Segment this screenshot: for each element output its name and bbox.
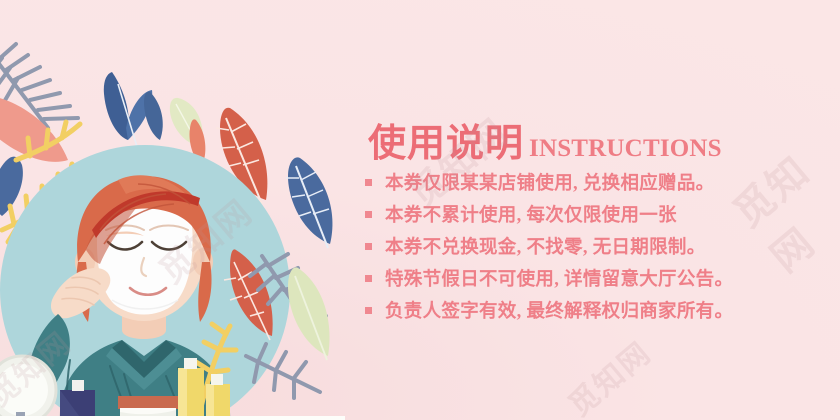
bullet-square-icon — [365, 307, 372, 314]
blue-bottle-cap — [72, 380, 84, 391]
list-item: 负责人签字有效, 最终解释权归商家所有。 — [363, 294, 833, 326]
bullet-square-icon — [365, 211, 372, 218]
list-item: 特殊节假日不可使用, 详情留意大厅公告。 — [363, 262, 833, 294]
blue-feather-upper-2 — [144, 92, 163, 140]
illustration-svg — [0, 0, 345, 420]
bullet-square-icon — [365, 275, 372, 282]
woman-facial-mask-illustration — [0, 0, 345, 420]
rule-text: 特殊节假日不可使用, 详情留意大厅公告。 — [385, 265, 733, 291]
list-item: 本券不累计使用, 每次仅限使用一张 — [363, 198, 833, 230]
instructions-panel: 使用说明INSTRUCTIONS 本券仅限某某店铺使用, 兑换相应赠品。 本券不… — [363, 0, 840, 420]
yellow-bottle-short-cap — [211, 374, 223, 385]
jar-lid — [118, 396, 178, 409]
rule-text: 本券不兑换现金, 不找零, 无日期限制。 — [385, 233, 706, 259]
yellow-bottle-tall-cap — [184, 358, 197, 369]
title-english: INSTRUCTIONS — [529, 135, 722, 162]
list-item: 本券不兑换现金, 不找零, 无日期限制。 — [363, 230, 833, 262]
rule-text: 本券仅限某某店铺使用, 兑换相应赠品。 — [385, 169, 714, 195]
bullet-square-icon — [365, 179, 372, 186]
rule-text: 负责人签字有效, 最终解释权归商家所有。 — [385, 297, 733, 323]
rule-text: 本券不累计使用, 每次仅限使用一张 — [385, 201, 677, 227]
title-chinese: 使用说明 — [368, 123, 524, 165]
page-title: 使用说明INSTRUCTIONS — [368, 112, 722, 167]
list-item: 本券仅限某某店铺使用, 兑换相应赠品。 — [363, 166, 833, 198]
bullet-square-icon — [365, 243, 372, 250]
table-surface — [0, 416, 345, 420]
rules-list: 本券仅限某某店铺使用, 兑换相应赠品。 本券不累计使用, 每次仅限使用一张 本券… — [363, 166, 833, 326]
coupon-instructions-banner: 使用说明INSTRUCTIONS 本券仅限某某店铺使用, 兑换相应赠品。 本券不… — [0, 0, 840, 420]
